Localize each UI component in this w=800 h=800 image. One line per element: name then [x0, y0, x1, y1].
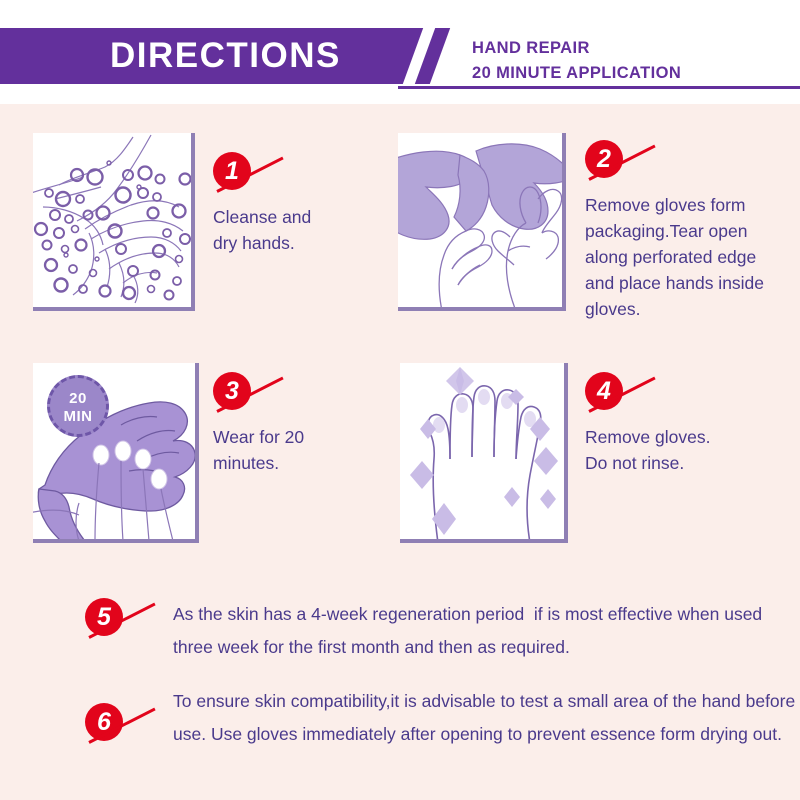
header: DIRECTIONS HAND REPAIR 20 MINUTE APPLICA…	[0, 0, 800, 104]
step-4-text-block: 4 Remove gloves. Do not rinse.	[585, 372, 785, 476]
timer-badge: 20 MIN	[47, 375, 109, 437]
step-3-illustration-card: 20 MIN	[33, 363, 199, 543]
timer-badge-value: 20	[50, 390, 106, 408]
hands-opening-glove-package-icon	[398, 133, 566, 311]
directions-infographic: DIRECTIONS HAND REPAIR 20 MINUTE APPLICA…	[0, 0, 800, 800]
step-2-badge: 2	[585, 140, 675, 186]
header-rule	[398, 86, 800, 89]
washing-hands-with-bubbles-icon	[33, 133, 195, 311]
step-4-text: Remove gloves. Do not rinse.	[585, 424, 785, 476]
header-subtitle-line-1: HAND REPAIR	[472, 39, 590, 58]
step-1-text-block: 1 Cleanse and dry hands.	[213, 152, 393, 256]
step-4-illustration-card	[400, 363, 568, 543]
timer-badge-unit: MIN	[50, 408, 106, 426]
note-5-badge: 5	[85, 598, 171, 644]
step-1-badge: 1	[213, 152, 303, 198]
note-5-text: As the skin has a 4-week regeneration pe…	[173, 598, 800, 664]
note-6-badge: 6	[85, 703, 171, 749]
header-subtitle-line-2: 20 MINUTE APPLICATION	[472, 64, 681, 83]
step-3-text: Wear for 20 minutes.	[213, 424, 393, 476]
step-4-badge: 4	[585, 372, 675, 418]
step-1-illustration-card	[33, 133, 195, 311]
note-6-text: To ensure skin compatibility,it is advis…	[173, 685, 800, 751]
step-2-text-block: 2 Remove gloves form packaging.Tear open…	[585, 140, 790, 322]
step-3-badge: 3	[213, 372, 303, 418]
clean-hand-with-sparkles-icon	[400, 363, 568, 543]
step-2-text: Remove gloves form packaging.Tear open a…	[585, 192, 790, 322]
page-title: DIRECTIONS	[110, 33, 390, 79]
step-1-text: Cleanse and dry hands.	[213, 204, 393, 256]
step-3-text-block: 3 Wear for 20 minutes.	[213, 372, 393, 476]
step-2-illustration-card	[398, 133, 566, 311]
